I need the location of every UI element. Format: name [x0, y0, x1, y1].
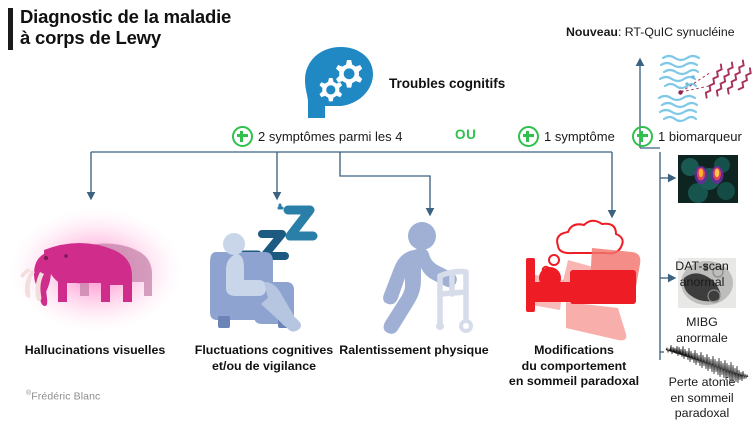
symptom-label-rbd-line-2: du comportement	[498, 359, 650, 375]
pink-elephants-icon	[8, 198, 184, 338]
criterion-one-symptom-label: 1 symptôme	[544, 129, 615, 144]
symptom-label-fluctuations-line-2: et/ou de vigilance	[188, 359, 340, 375]
title-line-1: Diagnostic de la maladie	[20, 6, 231, 27]
criterion-one-biomarker-label: 1 biomarqueur	[658, 129, 742, 144]
biomarker-label-mibg-line-1: MIBG	[650, 315, 754, 331]
symptom-label-fluctuations-line-1: Fluctuations cognitives	[188, 343, 340, 359]
symptom-label-rbd-line-1: Modifications	[498, 343, 650, 359]
diagram-canvas: Diagnostic de la maladie à corps de Lewy…	[0, 0, 754, 424]
title-line-2: à corps de Lewy	[20, 27, 231, 48]
novelty-label: Nouveau: RT-QuIC synucléine	[566, 25, 735, 39]
biomarker-label-atonie: Perte atonie en sommeil paradoxal	[650, 375, 754, 422]
criterion-two-symptoms-label: 2 symptômes parmi les 4	[258, 129, 403, 144]
plus-circle-icon	[232, 126, 253, 147]
criterion-two-symptoms: 2 symptômes parmi les 4	[232, 126, 403, 147]
criteria-operator-or: OU	[455, 127, 476, 142]
plus-circle-icon	[632, 126, 653, 147]
title-accent-bar	[8, 8, 13, 50]
biomarker-label-mibg-line-2: anormale	[650, 331, 754, 347]
head-gears-icon	[297, 44, 381, 122]
plus-circle-icon	[518, 126, 539, 147]
symptom-label-ralentissement: Ralentissement physique	[332, 343, 496, 359]
biomarker-label-atonie-line-1: Perte atonie	[650, 375, 754, 391]
novelty-rest: : RT-QuIC synucléine	[618, 25, 735, 39]
credit-text: Frédéric Blanc	[31, 391, 100, 403]
biomarker-label-mibg: MIBG anormale	[650, 315, 754, 346]
symptom-label-fluctuations: Fluctuations cognitives et/ou de vigilan…	[188, 343, 340, 374]
biomarker-label-atonie-line-3: paradoxal	[650, 406, 754, 422]
credit-line: ®Frédéric Blanc	[26, 390, 100, 403]
core-feature-label: Troubles cognitifs	[389, 76, 505, 91]
symptom-label-rbd: Modifications du comportement en sommeil…	[498, 343, 650, 390]
biomarker-label-atonie-line-2: en sommeil	[650, 391, 754, 407]
criterion-one-symptom: 1 symptôme	[518, 126, 615, 147]
novelty-badge: Nouveau	[566, 25, 618, 39]
page-title: Diagnostic de la maladie à corps de Lewy	[8, 6, 231, 50]
rem-sleep-behavior-icon	[506, 216, 656, 340]
biomarker-label-dat-scan-line-2: anormal	[650, 275, 754, 291]
symptom-label-hallucinations: Hallucinations visuelles	[6, 343, 184, 359]
criterion-one-biomarker: 1 biomarqueur	[632, 126, 742, 147]
core-feature-group: Troubles cognitifs	[297, 44, 505, 122]
sleeping-in-armchair-icon	[196, 196, 338, 338]
synuclein-fibrils-icon	[657, 46, 753, 126]
symptom-label-rbd-line-3: en sommeil paradoxal	[498, 374, 650, 390]
biomarker-label-dat-scan: DAT-scan anormal	[650, 259, 754, 290]
title-text: Diagnostic de la maladie à corps de Lewy	[20, 6, 231, 49]
elderly-walker-icon	[358, 214, 484, 340]
dat-scan-image	[678, 155, 738, 203]
biomarker-label-dat-scan-line-1: DAT-scan	[650, 259, 754, 275]
